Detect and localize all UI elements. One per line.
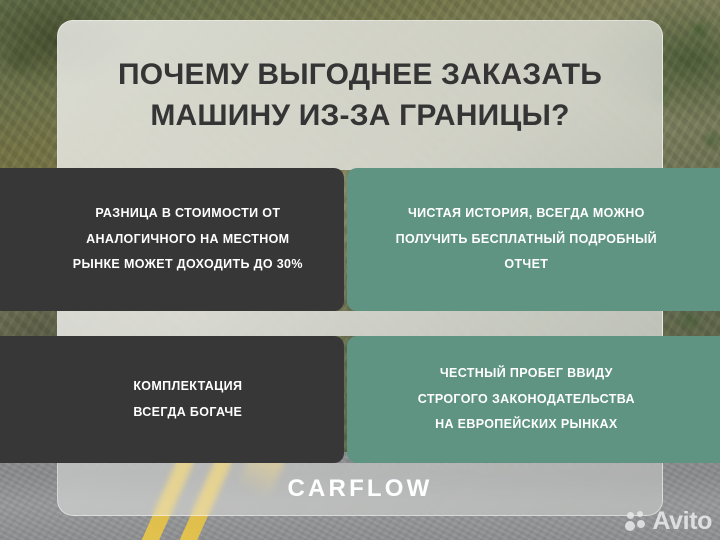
feature-card-text: РАЗНИЦА В СТОИМОСТИ ОТ АНАЛОГИЧНОГО НА М… [73,201,303,278]
feature-card-text: КОМПЛЕКТАЦИЯ ВСЕГДА БОГАЧЕ [133,374,242,425]
avito-logo-icon [625,511,647,533]
page-title-line-2: МАШИНУ ИЗ-ЗА ГРАНИЦЫ? [118,96,602,136]
feature-line: РЫНКЕ МОЖЕТ ДОХОДИТЬ ДО 30% [73,252,303,278]
feature-line: ВСЕГДА БОГАЧЕ [133,400,242,426]
feature-card-text: ЧИСТАЯ ИСТОРИЯ, ВСЕГДА МОЖНО ПОЛУЧИТЬ БЕ… [396,201,657,278]
feature-card-clean-history[interactable]: ЧИСТАЯ ИСТОРИЯ, ВСЕГДА МОЖНО ПОЛУЧИТЬ БЕ… [347,168,720,311]
feature-line: СТРОГОГО ЗАКОНОДАТЕЛЬСТВА [418,387,635,413]
feature-row-2: КОМПЛЕКТАЦИЯ ВСЕГДА БОГАЧЕ ЧЕСТНЫЙ ПРОБЕ… [0,336,720,463]
feature-line: ЧИСТАЯ ИСТОРИЯ, ВСЕГДА МОЖНО [396,201,657,227]
page-title-line-1: ПОЧЕМУ ВЫГОДНЕЕ ЗАКАЗАТЬ [118,55,602,95]
header-panel: ПОЧЕМУ ВЫГОДНЕЕ ЗАКАЗАТЬ МАШИНУ ИЗ-ЗА ГР… [57,20,663,170]
divider-panel [57,311,663,336]
feature-line: РАЗНИЦА В СТОИМОСТИ ОТ [73,201,303,227]
footer-panel: CARFLOW [57,463,663,516]
infographic-canvas: ПОЧЕМУ ВЫГОДНЕЕ ЗАКАЗАТЬ МАШИНУ ИЗ-ЗА ГР… [0,0,720,540]
feature-line: ЧЕСТНЫЙ ПРОБЕГ ВВИДУ [418,361,635,387]
feature-card-better-equipment[interactable]: КОМПЛЕКТАЦИЯ ВСЕГДА БОГАЧЕ [0,336,344,463]
feature-line: ОТЧЕТ [396,252,657,278]
feature-line: ПОЛУЧИТЬ БЕСПЛАТНЫЙ ПОДРОБНЫЙ [396,227,657,253]
feature-line: КОМПЛЕКТАЦИЯ [133,374,242,400]
avito-watermark-label: Avito [652,509,712,534]
feature-card-text: ЧЕСТНЫЙ ПРОБЕГ ВВИДУ СТРОГОГО ЗАКОНОДАТЕ… [418,361,635,438]
page-title: ПОЧЕМУ ВЫГОДНЕЕ ЗАКАЗАТЬ МАШИНУ ИЗ-ЗА ГР… [92,55,628,135]
feature-card-honest-mileage[interactable]: ЧЕСТНЫЙ ПРОБЕГ ВВИДУ СТРОГОГО ЗАКОНОДАТЕ… [347,336,720,463]
feature-line: АНАЛОГИЧНОГО НА МЕСТНОМ [73,227,303,253]
brand-logo-carflow: CARFLOW [287,475,432,503]
feature-row-1: РАЗНИЦА В СТОИМОСТИ ОТ АНАЛОГИЧНОГО НА М… [0,168,720,311]
avito-watermark: Avito [625,509,712,534]
feature-line: НА ЕВРОПЕЙСКИХ РЫНКАХ [418,412,635,438]
feature-card-price-difference[interactable]: РАЗНИЦА В СТОИМОСТИ ОТ АНАЛОГИЧНОГО НА М… [0,168,344,311]
